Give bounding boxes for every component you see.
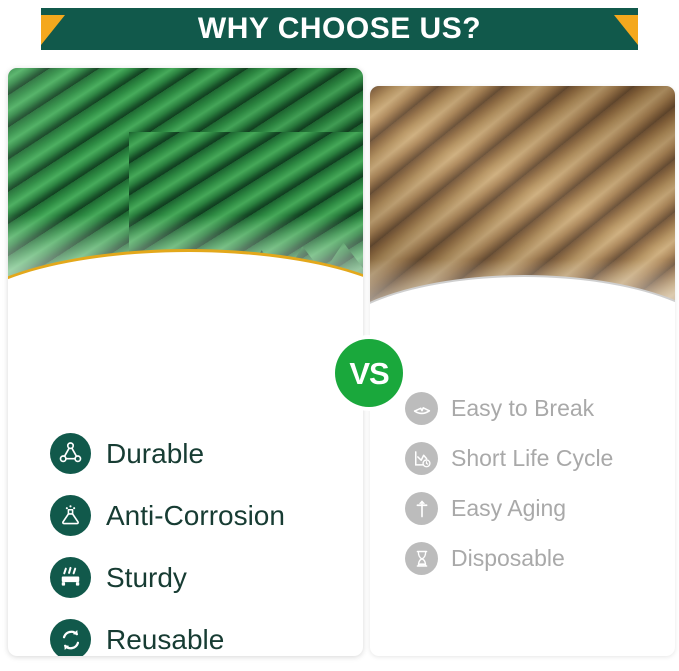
page-title: WHY CHOOSE US?	[198, 14, 481, 44]
list-item-label: Durable	[106, 440, 204, 468]
list-item-label: Disposable	[451, 547, 565, 570]
list-item: Easy to Break	[405, 392, 613, 425]
cons-feature-list: Easy to Break Short Life Cycle	[405, 392, 613, 592]
list-item: Anti-Corrosion	[50, 495, 285, 536]
list-item: Sturdy	[50, 557, 285, 598]
vs-label: VS	[349, 358, 388, 389]
flask-droplets-icon	[50, 495, 91, 536]
list-item: Durable	[50, 433, 285, 474]
list-item-label: Sturdy	[106, 564, 187, 592]
vs-badge: VS	[335, 339, 403, 407]
broken-beam-icon	[405, 392, 438, 425]
list-item: Reusable	[50, 619, 285, 656]
left-photo-fade	[8, 215, 363, 313]
left-product-card: Durable Anti-Corrosion	[8, 68, 363, 656]
list-item: Short Life Cycle	[405, 442, 613, 475]
molecule-triangle-icon	[50, 433, 91, 474]
hourglass-trash-icon	[405, 542, 438, 575]
list-item-label: Easy to Break	[451, 397, 594, 420]
list-item-label: Anti-Corrosion	[106, 502, 285, 530]
right-product-card: Easy to Break Short Life Cycle	[370, 86, 675, 656]
declining-chart-clock-icon	[405, 442, 438, 475]
triangle-corner-right-icon	[614, 15, 638, 45]
weathered-post-icon	[405, 492, 438, 525]
header-banner: WHY CHOOSE US?	[41, 8, 638, 50]
left-product-photo	[8, 68, 363, 313]
load-bearing-beam-icon	[50, 557, 91, 598]
list-item-label: Reusable	[106, 626, 224, 654]
right-photo-fade	[370, 259, 675, 333]
list-item: Disposable	[405, 542, 613, 575]
right-product-photo	[370, 86, 675, 333]
pros-feature-list: Durable Anti-Corrosion	[50, 433, 285, 656]
triangle-corner-left-icon	[41, 15, 65, 45]
recycle-refresh-icon	[50, 619, 91, 656]
list-item: Easy Aging	[405, 492, 613, 525]
list-item-label: Short Life Cycle	[451, 447, 613, 470]
list-item-label: Easy Aging	[451, 497, 566, 520]
